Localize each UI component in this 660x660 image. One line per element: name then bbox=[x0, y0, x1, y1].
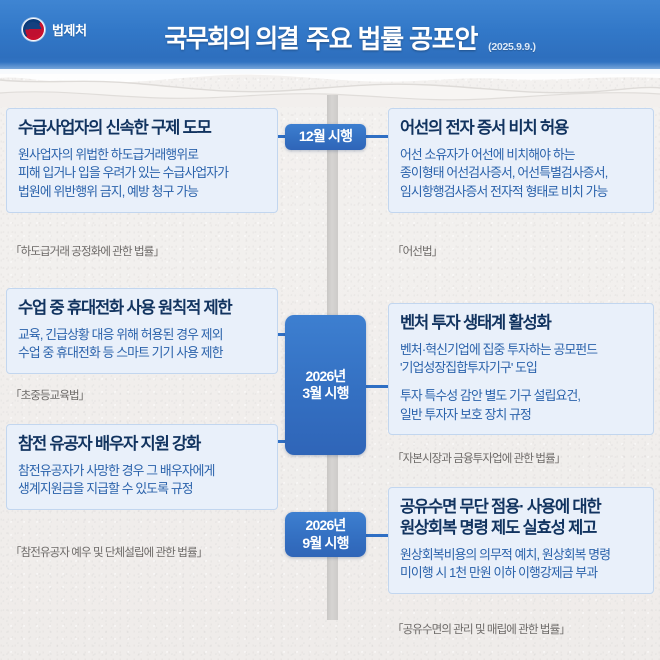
card-title: 공유수면 무단 점용· 사용에 대한 원상회복 명령 제도 실효성 제고 bbox=[400, 497, 642, 539]
card-law-name: 「참전유공자 예우 및 단체설립에 관한 법률」 bbox=[10, 544, 207, 560]
card-body-line: 피해 입거나 입을 우려가 있는 수급사업자가 bbox=[18, 164, 266, 183]
card-body-line: 원사업자의 위법한 하도급거래행위로 bbox=[18, 146, 266, 165]
card-law-name: 「초중등교육법」 bbox=[10, 387, 89, 403]
badge-label-line1: 2026년 bbox=[305, 517, 345, 534]
card-body-line: 수업 중 휴대전화 등 스마트 기기 사용 제한 bbox=[18, 344, 266, 363]
card-body-line: 벤처·혁신기업에 집중 투자하는 공모펀드 bbox=[400, 341, 642, 360]
card-body: 어선 소유자가 어선에 비치해야 하는 종이형태 어선검사증서, 어선특별검사증… bbox=[400, 146, 642, 202]
card-fishing-vessel-ecertificate[interactable]: 어선의 전자 증서 비치 허용 어선 소유자가 어선에 비치해야 하는 종이형태… bbox=[388, 108, 654, 213]
card-body: 원상회복비용의 의무적 예치, 원상회복 명령 미이행 시 1천 만원 이하 이… bbox=[400, 546, 642, 583]
card-law-name: 「하도급거래 공정화에 관한 법률」 bbox=[10, 243, 164, 259]
card-public-waters-restoration-order[interactable]: 공유수면 무단 점용· 사용에 대한 원상회복 명령 제도 실효성 제고 원상회… bbox=[388, 487, 654, 594]
card-veteran-spouse-support[interactable]: 참전 유공자 배우자 지원 강화 참전유공자가 사망한 경우 그 배우자에게 생… bbox=[6, 424, 278, 510]
card-title: 벤처 투자 생태계 활성화 bbox=[400, 313, 642, 334]
card-body-line: 원상회복비용의 의무적 예치, 원상회복 명령 bbox=[400, 546, 642, 565]
card-body-line: '기업성장집합투자기구' 도입 bbox=[400, 359, 642, 378]
card-subcontractor-relief[interactable]: 수급사업자의 신속한 구제 도모 원사업자의 위법한 하도급거래행위로 피해 입… bbox=[6, 108, 278, 213]
infographic-page: 법제처 국무회의 의결 주요 법률 공포안 (2025.9.9.) 12월 시행… bbox=[0, 0, 660, 660]
badge-label-line2: 9월 시행 bbox=[302, 535, 348, 552]
card-body: 교육, 긴급상황 대응 위해 허용된 경우 제외 수업 중 휴대전화 등 스마트… bbox=[18, 326, 266, 363]
card-title: 참전 유공자 배우자 지원 강화 bbox=[18, 434, 266, 455]
card-body: 참전유공자가 사망한 경우 그 배우자에게 생계지원금을 지급할 수 있도록 규… bbox=[18, 462, 266, 499]
card-body-group-2: 투자 특수성 감안 별도 기구 설립요건, 일반 투자자 보호 장치 규정 bbox=[400, 387, 642, 424]
page-title: 국무회의 의결 주요 법률 공포안 (2025.9.9.) bbox=[0, 0, 660, 74]
timeline-badge-september-2026[interactable]: 2026년 9월 시행 bbox=[285, 512, 366, 557]
badge-label-line2: 3월 시행 bbox=[302, 385, 348, 402]
card-body-line: 법원에 위반행위 금지, 예방 청구 가능 bbox=[18, 183, 266, 202]
card-body-line: 종이형태 어선검사증서, 어선특별검사증서, bbox=[400, 164, 642, 183]
card-title: 수업 중 휴대전화 사용 원칙적 제한 bbox=[18, 298, 266, 319]
card-body: 벤처·혁신기업에 집중 투자하는 공모펀드 '기업성장집합투자기구' 도입 투자… bbox=[400, 341, 642, 425]
card-title: 어선의 전자 증서 비치 허용 bbox=[400, 118, 642, 139]
card-title-line: 원상회복 명령 제도 실효성 제고 bbox=[400, 518, 642, 539]
card-law-name: 「어선법」 bbox=[392, 243, 442, 259]
card-title: 수급사업자의 신속한 구제 도모 bbox=[18, 118, 266, 139]
badge-label-line1: 12월 시행 bbox=[299, 128, 352, 145]
page-header: 법제처 국무회의 의결 주요 법률 공포안 (2025.9.9.) bbox=[0, 0, 660, 74]
card-law-name: 「자본시장과 금융투자업에 관한 법률」 bbox=[392, 450, 565, 466]
card-body-line: 임시항행검사증서 전자적 형태로 비치 가능 bbox=[400, 183, 642, 202]
card-law-name: 「공유수면의 관리 및 매립에 관한 법률」 bbox=[392, 621, 570, 637]
card-body-line: 미이행 시 1천 만원 이하 이행강제금 부과 bbox=[400, 564, 642, 583]
timeline-badge-december[interactable]: 12월 시행 bbox=[285, 124, 366, 150]
card-body-line: 생계지원금을 지급할 수 있도록 규정 bbox=[18, 480, 266, 499]
title-prefix: 국무회의 의결 bbox=[164, 19, 298, 55]
publication-date: (2025.9.9.) bbox=[488, 41, 535, 53]
card-body: 원사업자의 위법한 하도급거래행위로 피해 입거나 입을 우려가 있는 수급사업… bbox=[18, 146, 266, 202]
card-body-line: 참전유공자가 사망한 경우 그 배우자에게 bbox=[18, 462, 266, 481]
card-body-line: 교육, 긴급상황 대응 위해 허용된 경우 제외 bbox=[18, 326, 266, 345]
title-main: 주요 법률 공포안 bbox=[306, 19, 477, 56]
card-mobile-phone-restriction[interactable]: 수업 중 휴대전화 사용 원칙적 제한 교육, 긴급상황 대응 위해 허용된 경… bbox=[6, 288, 278, 374]
card-venture-investment-ecosystem[interactable]: 벤처 투자 생태계 활성화 벤처·혁신기업에 집중 투자하는 공모펀드 '기업성… bbox=[388, 303, 654, 435]
card-body-line: 어선 소유자가 어선에 비치해야 하는 bbox=[400, 146, 642, 165]
card-title-line: 공유수면 무단 점용· 사용에 대한 bbox=[400, 497, 642, 518]
card-body-line: 투자 특수성 감안 별도 기구 설립요건, bbox=[400, 387, 642, 406]
card-body-line: 일반 투자자 보호 장치 규정 bbox=[400, 406, 642, 425]
badge-label-line1: 2026년 bbox=[305, 368, 345, 385]
timeline-badge-march-2026[interactable]: 2026년 3월 시행 bbox=[285, 315, 366, 455]
